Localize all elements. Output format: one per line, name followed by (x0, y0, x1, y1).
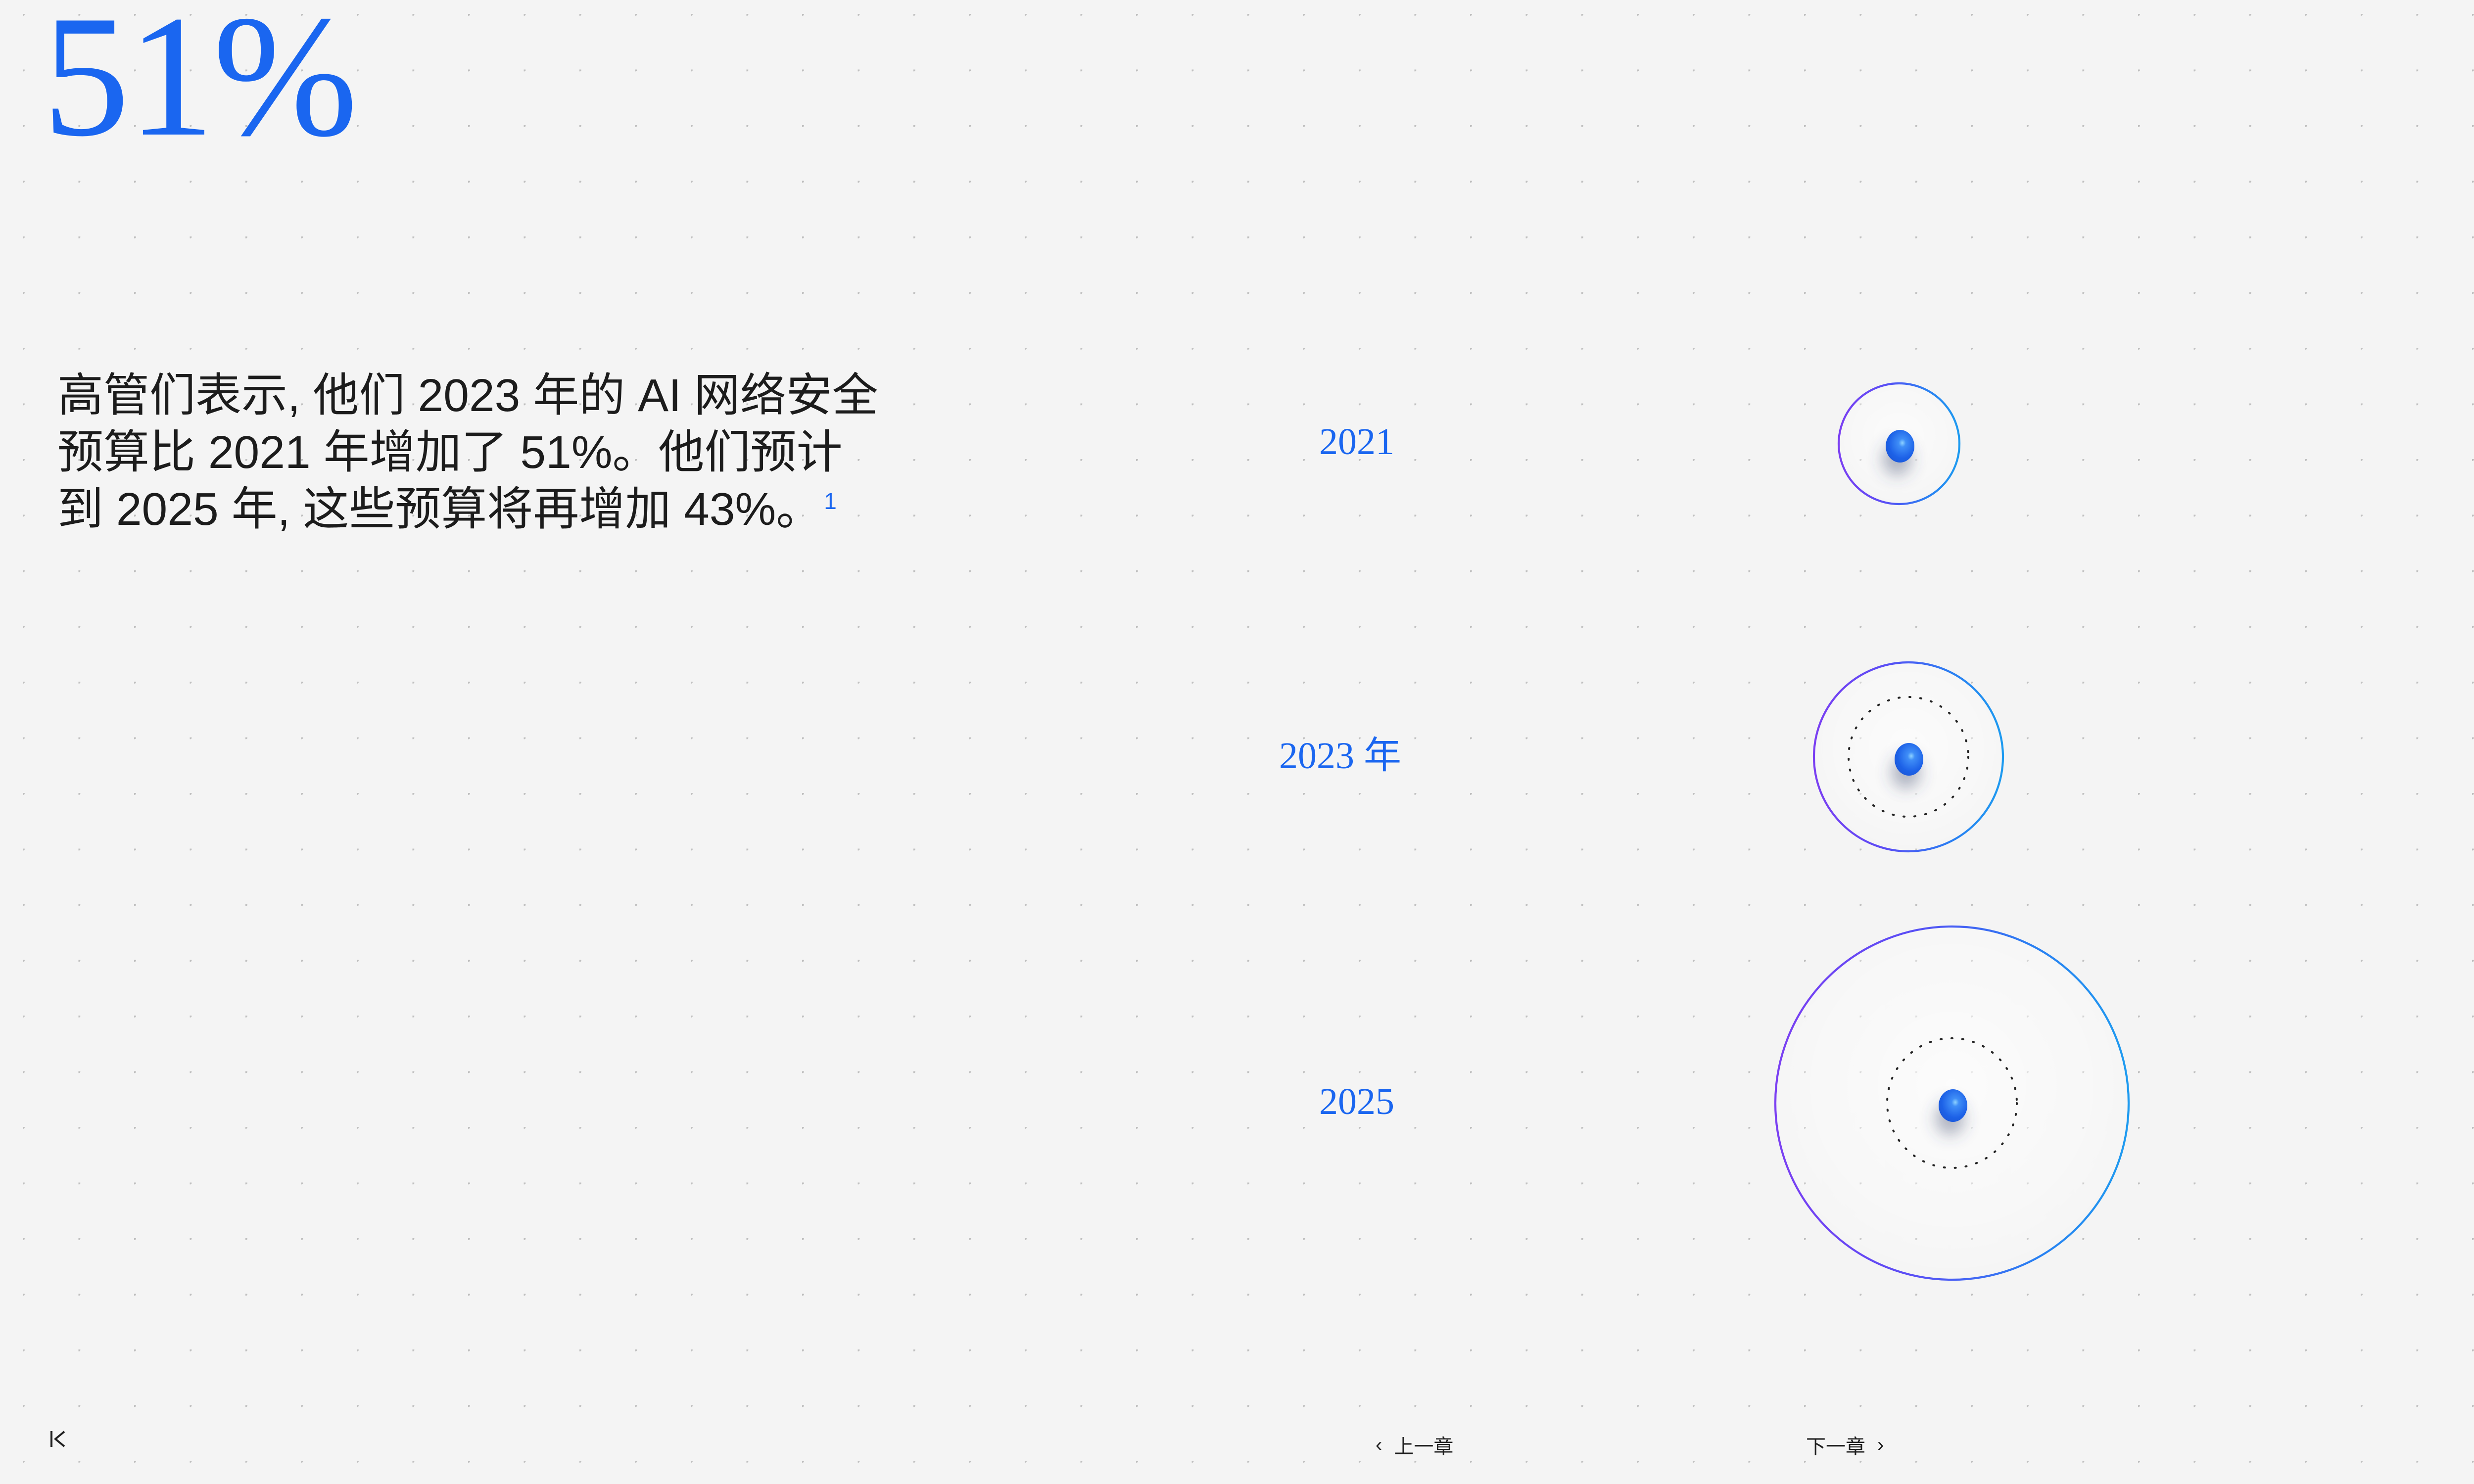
chevron-right-icon: › (1877, 1435, 1884, 1455)
bubble-group-2021: 2021 (1319, 383, 1959, 504)
body-paragraph: 高管们表示, 他们 2023 年的 AI 网络安全预算比 2021 年增加了 5… (57, 367, 879, 538)
next-chapter-label: 下一章 (1806, 1431, 1865, 1459)
prev-chapter-button[interactable]: ‹ 上一章 (1376, 1431, 1453, 1459)
bubble-group-2023: 2023 年 (1279, 662, 2003, 851)
footnote-marker: 1 (824, 488, 837, 514)
skip-to-first-icon (48, 1428, 68, 1456)
bubble-chart: 2021 2023 年 2025 (1336, 277, 2227, 1316)
bubble-group-2025: 2025 (1319, 927, 2129, 1280)
sphere-marker-2025 (1939, 1089, 1967, 1122)
chevron-left-icon: ‹ (1376, 1435, 1382, 1455)
next-chapter-button[interactable]: 下一章 › (1806, 1431, 1884, 1459)
body-paragraph-text: 高管们表示, 他们 2023 年的 AI 网络安全预算比 2021 年增加了 5… (57, 370, 878, 535)
sphere-marker-2023 (1895, 743, 1923, 776)
prev-chapter-label: 上一章 (1394, 1431, 1453, 1459)
bubble-label-2025: 2025 (1319, 1081, 1394, 1122)
sphere-marker-2021 (1886, 430, 1914, 463)
skip-to-first-button[interactable] (48, 1428, 68, 1456)
bubble-label-2021: 2021 (1319, 421, 1394, 463)
page-headline-percentage: 51% (43, 0, 356, 163)
bubble-label-2023: 2023 年 (1279, 735, 1401, 777)
footer-navigation-bar: ‹ 上一章 下一章 › 8 (0, 1410, 2474, 1484)
